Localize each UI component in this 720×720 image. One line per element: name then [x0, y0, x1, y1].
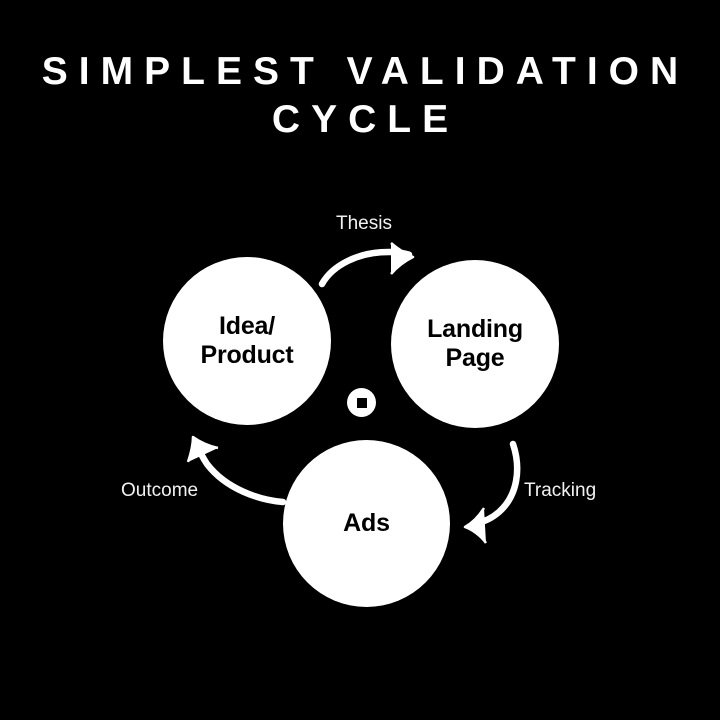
node-idea-product-label: Idea/ Product: [192, 312, 301, 370]
stop-square-inner: [357, 398, 367, 408]
node-ads[interactable]: Ads: [283, 440, 450, 607]
page-title-line-1: SIMPLEST VALIDATION: [0, 48, 720, 96]
thesis-arrow-icon: [322, 243, 413, 284]
edge-label-tracking: Tracking: [524, 480, 596, 502]
edge-label-outcome: Outcome: [121, 480, 198, 502]
node-ads-label: Ads: [335, 509, 398, 538]
stop-square-icon: [347, 388, 376, 417]
outcome-arrow-icon: [188, 437, 283, 502]
tracking-arrow-icon: [465, 444, 517, 543]
diagram-canvas: SIMPLEST VALIDATION CYCLE Idea/ Product …: [0, 0, 720, 720]
page-title-line-2: CYCLE: [0, 96, 720, 144]
page-title: SIMPLEST VALIDATION CYCLE: [0, 48, 720, 144]
node-landing-page-label: Landing Page: [419, 315, 531, 373]
node-idea-product[interactable]: Idea/ Product: [163, 257, 331, 425]
node-landing-page[interactable]: Landing Page: [391, 260, 559, 428]
edge-label-thesis: Thesis: [336, 213, 392, 235]
arrow-layer: [0, 0, 720, 720]
